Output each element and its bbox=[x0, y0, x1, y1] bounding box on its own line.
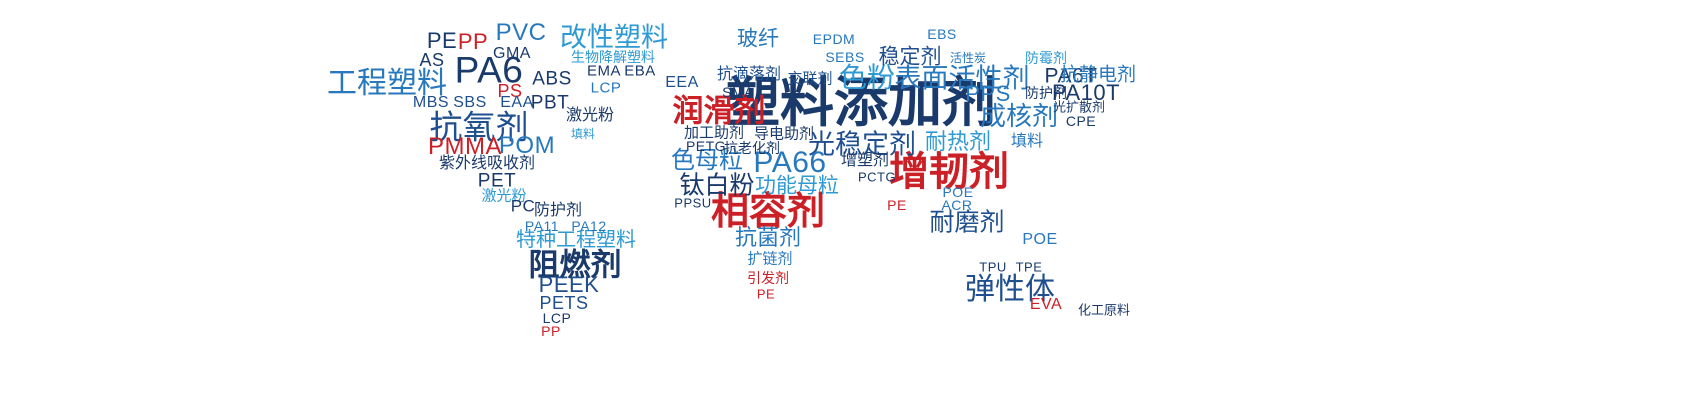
word-cloud-term[interactable]: EAA bbox=[500, 95, 534, 111]
word-cloud-term[interactable]: EVA bbox=[1030, 297, 1062, 313]
word-cloud-term[interactable]: MBS bbox=[413, 95, 449, 111]
word-cloud-term[interactable]: 活性炭 bbox=[950, 52, 986, 64]
word-cloud-term[interactable]: TPE bbox=[1016, 261, 1043, 274]
word-cloud-term[interactable]: SBS bbox=[453, 95, 487, 111]
word-cloud-term[interactable]: EBA bbox=[624, 64, 656, 79]
word-cloud-term[interactable]: 光扩散剂 bbox=[1053, 101, 1105, 114]
word-cloud-term[interactable]: 稳定剂 bbox=[879, 47, 942, 68]
word-cloud-term[interactable]: EPDM bbox=[813, 32, 855, 46]
word-cloud-term[interactable]: AS bbox=[419, 51, 444, 69]
word-cloud-term[interactable]: PETG bbox=[686, 139, 726, 153]
word-cloud-term[interactable]: 耐磨剂 bbox=[929, 211, 1004, 236]
word-cloud-term[interactable]: 扩链剂 bbox=[747, 252, 792, 267]
word-cloud-term[interactable]: ABS bbox=[532, 70, 572, 89]
word-cloud-term[interactable]: 润滑剂 bbox=[673, 96, 766, 127]
word-cloud-term[interactable]: PBT bbox=[531, 94, 569, 113]
word-cloud-term[interactable]: PP bbox=[541, 324, 561, 338]
word-cloud-term[interactable]: ACR bbox=[941, 198, 972, 212]
word-cloud-term[interactable]: 防霉剂 bbox=[1025, 51, 1067, 65]
word-cloud-term[interactable]: CPE bbox=[1066, 114, 1096, 128]
word-cloud-term[interactable]: PCTG bbox=[858, 171, 896, 184]
word-cloud-term[interactable]: 引发剂 bbox=[747, 271, 789, 285]
word-cloud-term[interactable]: PE bbox=[757, 288, 775, 301]
word-cloud-term[interactable]: GMA bbox=[493, 46, 531, 62]
word-cloud-term[interactable]: 改性塑料 bbox=[560, 25, 668, 52]
word-cloud-term[interactable]: LCP bbox=[591, 81, 622, 96]
word-cloud-term[interactable]: 增塑剂 bbox=[841, 153, 889, 169]
word-cloud-term[interactable]: 耐热剂 bbox=[925, 131, 991, 153]
word-cloud-term[interactable]: PPS bbox=[965, 83, 1011, 105]
word-cloud-term[interactable]: EEA bbox=[665, 75, 699, 91]
word-cloud-term[interactable]: 玻纤 bbox=[737, 29, 779, 50]
word-cloud-term[interactable]: 成核剂 bbox=[980, 103, 1058, 129]
word-cloud-term[interactable]: 填料 bbox=[1011, 134, 1043, 150]
word-cloud-term[interactable]: POE bbox=[1022, 232, 1057, 248]
word-cloud-term[interactable]: 抗滴落剂 bbox=[717, 67, 781, 83]
word-cloud-term[interactable]: PPSU bbox=[674, 197, 711, 210]
word-cloud-term[interactable]: 抗老化剂 bbox=[724, 141, 780, 155]
word-cloud-term[interactable]: 激光粉 bbox=[566, 108, 614, 124]
word-cloud-term[interactable]: PA12 bbox=[571, 219, 606, 233]
word-cloud-term[interactable]: PA11 bbox=[525, 219, 559, 233]
word-cloud-term[interactable]: EBS bbox=[927, 27, 957, 41]
word-cloud-term[interactable]: PVC bbox=[496, 21, 547, 45]
word-cloud-term[interactable]: PC bbox=[511, 198, 536, 215]
word-cloud-term[interactable]: 抗静电剂 bbox=[1060, 66, 1136, 85]
word-cloud-term[interactable]: 抗菌剂 bbox=[735, 227, 801, 249]
word-cloud-term[interactable]: PP bbox=[458, 31, 488, 53]
word-cloud-term[interactable]: 防护剂 bbox=[1025, 86, 1067, 100]
word-cloud-term[interactable]: 填料 bbox=[571, 128, 595, 140]
word-cloud-term[interactable]: PE bbox=[427, 30, 457, 52]
word-cloud-term[interactable]: PE bbox=[887, 198, 907, 212]
word-cloud-canvas: 塑料添加剂增韧剂相容剂工程塑料抗氧剂阻燃剂润滑剂表面活性剂光稳定剂PA6改性塑料… bbox=[0, 0, 1707, 400]
word-cloud-term[interactable]: TPU bbox=[979, 261, 1007, 274]
word-cloud-term[interactable]: 化工原料 bbox=[1078, 304, 1130, 317]
word-cloud-term[interactable]: 功能母粒 bbox=[755, 176, 839, 197]
word-cloud-term[interactable]: EMA bbox=[587, 64, 621, 79]
word-cloud-term[interactable]: 交联剂 bbox=[787, 72, 832, 87]
word-cloud-term[interactable]: 防护剂 bbox=[534, 203, 582, 219]
word-cloud-term[interactable]: SMA bbox=[722, 85, 754, 99]
word-cloud-term[interactable]: SEBS bbox=[825, 50, 864, 64]
